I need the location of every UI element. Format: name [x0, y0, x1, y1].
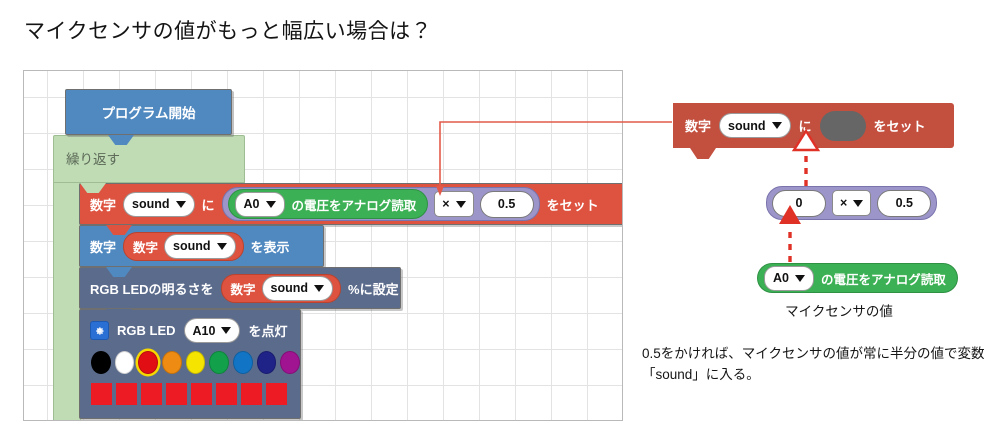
diagram-multiply-reporter[interactable]: 0 × 0.5	[766, 186, 937, 220]
color-swatch[interactable]	[233, 351, 253, 374]
operator-dropdown[interactable]: ×	[434, 191, 473, 217]
diagram-analog-pin-value: A0	[773, 271, 789, 285]
led-pixel[interactable]	[191, 383, 212, 405]
analog-pin-value: A0	[244, 197, 260, 211]
color-swatch[interactable]	[209, 351, 229, 374]
led-pixel[interactable]	[216, 383, 237, 405]
led-pixel[interactable]	[166, 383, 187, 405]
led-strip-row[interactable]	[80, 374, 300, 405]
set-block-variable-value: sound	[132, 197, 170, 211]
operand-input[interactable]: 0.5	[480, 191, 534, 218]
analog-read-reporter[interactable]: A0 の電圧をアナログ読取	[228, 189, 429, 219]
gear-icon[interactable]	[90, 321, 109, 340]
diagram-set-variable-dropdown[interactable]: sound	[719, 113, 791, 138]
brightness-variable-reporter[interactable]: 数字 sound	[221, 274, 342, 303]
brightness-variable-value: sound	[271, 281, 309, 295]
color-swatch[interactable]	[186, 351, 206, 374]
set-block-variable-dropdown[interactable]: sound	[123, 192, 195, 217]
set-block-particle: に	[202, 195, 215, 214]
start-block-label: プログラム開始	[101, 102, 195, 122]
diagram-set-variable-block[interactable]: 数字 sound に をセット	[673, 103, 954, 148]
rgb-led-block[interactable]: RGB LED A10 を点灯	[79, 309, 301, 419]
color-swatch[interactable]	[138, 351, 158, 374]
diagram-set-prefix: 数字	[685, 116, 711, 135]
multiply-reporter[interactable]: A0 の電圧をアナログ読取 × 0.5	[222, 187, 540, 221]
diagram-set-block-bottom-tab	[690, 148, 716, 159]
brightness-reporter-prefix: 数字	[231, 279, 256, 298]
led-pixel[interactable]	[91, 383, 112, 405]
brightness-block-suffix: %に設定	[348, 279, 399, 298]
set-block-prefix: 数字	[90, 195, 116, 214]
diagram-set-suffix: をセット	[874, 116, 926, 135]
start-block[interactable]: プログラム開始	[65, 89, 232, 135]
print-variable-reporter[interactable]: 数字 sound	[123, 232, 244, 261]
print-block-prefix: 数字	[90, 237, 116, 256]
color-swatch[interactable]	[257, 351, 277, 374]
brightness-variable-dropdown[interactable]: sound	[262, 276, 334, 301]
rgb-led-suffix: を点灯	[248, 321, 287, 340]
diagram-math-block-wrap: 0 × 0.5	[766, 186, 937, 220]
diagram-set-particle: に	[799, 116, 812, 135]
chevron-down-icon	[221, 327, 231, 334]
led-pixel[interactable]	[266, 383, 287, 405]
led-pixel[interactable]	[116, 383, 137, 405]
brightness-block-prefix: RGB LEDの明るさを	[90, 279, 214, 298]
chevron-down-icon	[456, 201, 466, 208]
set-variable-block[interactable]: 数字 sound に A0 の電圧をアナログ読取 ×	[79, 183, 623, 225]
print-reporter-prefix: 数字	[133, 237, 158, 256]
print-variable-dropdown[interactable]: sound	[164, 234, 236, 259]
print-block-suffix: を表示	[251, 237, 290, 256]
color-swatch[interactable]	[280, 351, 300, 374]
diagram-analog-pin-dropdown[interactable]: A0	[764, 266, 814, 291]
analog-pin-dropdown[interactable]: A0	[235, 192, 285, 217]
block-editor-panel[interactable]: 繰り返す プログラム開始 数字 sound に A0	[23, 70, 623, 421]
diagram-analog-read-label: の電圧をアナログ読取	[821, 269, 946, 288]
diagram-operator-value: ×	[840, 196, 847, 210]
print-variable-value: sound	[173, 239, 211, 253]
chevron-down-icon	[772, 122, 782, 129]
analog-read-label: の電圧をアナログ読取	[292, 195, 417, 214]
page-root: マイクセンサの値がもっと幅広い場合は？ 繰り返す プログラム開始 数字 soun…	[0, 0, 1000, 437]
loop-block-spine	[53, 183, 81, 421]
color-swatch[interactable]	[91, 351, 111, 374]
chevron-down-icon	[314, 285, 324, 292]
empty-value-slot[interactable]	[820, 111, 866, 141]
loop-block[interactable]: 繰り返す	[53, 135, 245, 183]
diagram-right-operand-input[interactable]: 0.5	[877, 190, 931, 217]
diagram-note-text: 0.5をかければ、マイクセンサの値が常に半分の値で変数「sound」に入る。	[642, 344, 990, 386]
chevron-down-icon	[266, 201, 276, 208]
operator-value: ×	[442, 197, 449, 211]
diagram-left-operand-input[interactable]: 0	[772, 190, 826, 217]
diagram-operator-dropdown[interactable]: ×	[832, 190, 871, 216]
diagram-set-variable-value: sound	[728, 119, 766, 133]
rgb-led-pin-dropdown[interactable]: A10	[184, 318, 241, 343]
color-swatch[interactable]	[115, 351, 135, 374]
chevron-down-icon	[176, 201, 186, 208]
led-pixel[interactable]	[141, 383, 162, 405]
diagram-analog-read-reporter[interactable]: A0 の電圧をアナログ読取	[757, 263, 958, 293]
color-swatch-row[interactable]	[80, 343, 300, 374]
color-swatch[interactable]	[162, 351, 182, 374]
chevron-down-icon	[795, 275, 805, 282]
rgb-led-pin-value: A10	[193, 324, 216, 338]
chevron-down-icon	[217, 243, 227, 250]
loop-block-label: 繰り返す	[66, 148, 120, 168]
rgb-led-prefix: RGB LED	[117, 323, 176, 338]
chevron-down-icon	[853, 200, 863, 207]
led-pixel[interactable]	[241, 383, 262, 405]
diagram-caption: マイクセンサの値	[714, 300, 964, 320]
set-block-suffix: をセット	[547, 195, 599, 214]
diagram-analog-block-wrap: A0 の電圧をアナログ読取	[757, 263, 958, 293]
page-title: マイクセンサの値がもっと幅広い場合は？	[24, 15, 432, 45]
